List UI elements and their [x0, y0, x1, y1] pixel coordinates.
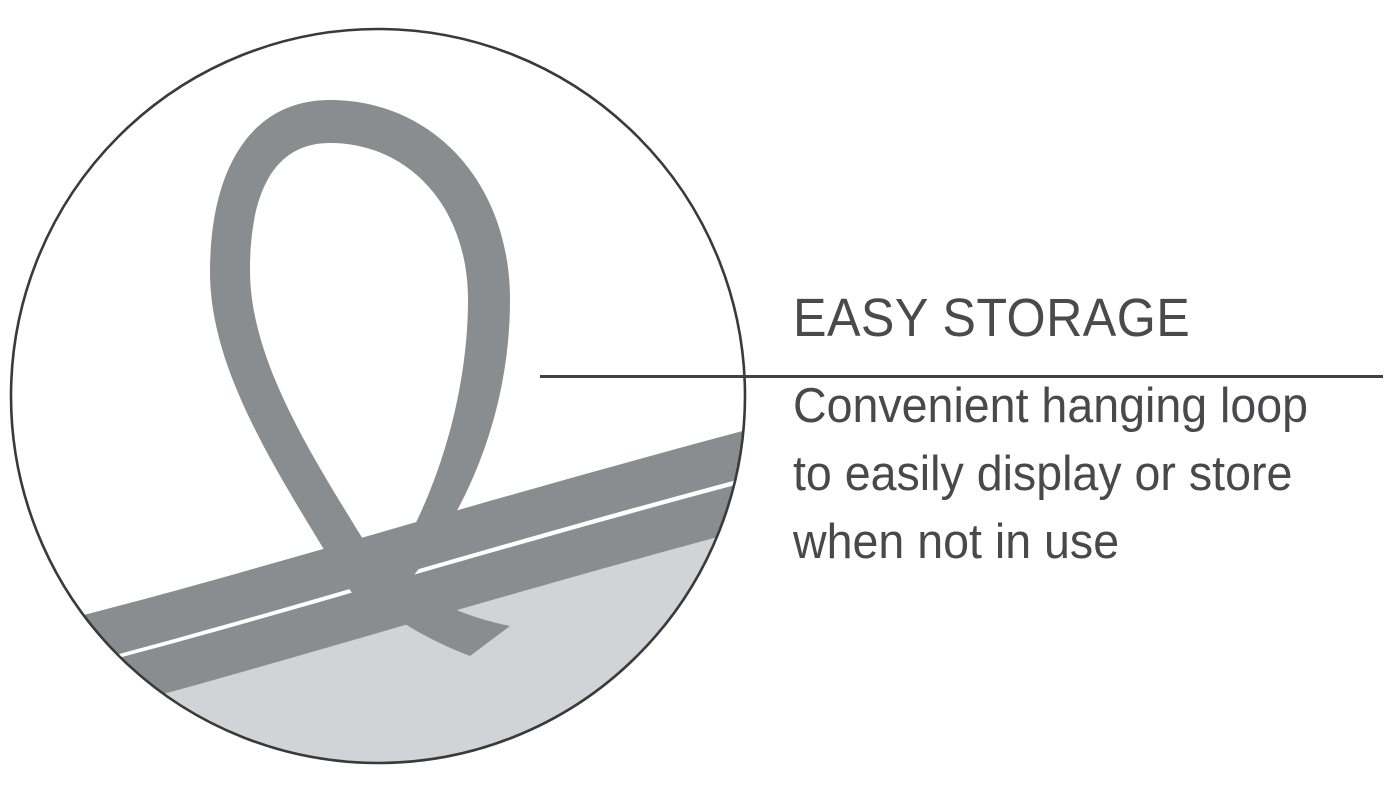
body-line-3: when not in use [793, 508, 1357, 576]
feature-callout: EASY STORAGE Convenient hanging loop to … [0, 0, 1387, 805]
callout-headline: EASY STORAGE [793, 288, 1345, 348]
body-line-1: Convenient hanging loop [793, 372, 1357, 440]
body-line-2: to easily display or store [793, 440, 1357, 508]
easy-storage-illustration [0, 0, 760, 805]
callout-body: Convenient hanging loop to easily displa… [793, 348, 1357, 576]
callout-text-block: EASY STORAGE Convenient hanging loop to … [793, 288, 1387, 576]
